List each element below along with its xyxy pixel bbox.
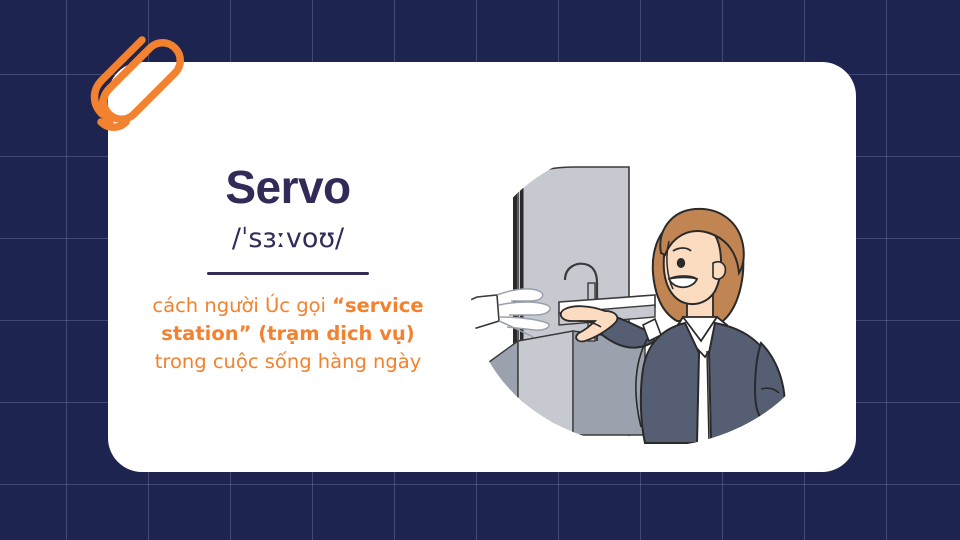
divider [207, 272, 369, 275]
definition-line1-bold: “service [332, 294, 423, 317]
phonetic-transcription: /ˈsɜːvoʊ/ [232, 225, 344, 252]
definition-line2-bold: station” (trạm dịch vụ) [161, 322, 414, 345]
slide-canvas: Servo /ˈsɜːvoʊ/ cách người Úc gọi “servi… [0, 0, 960, 540]
definition-line3-plain: trong cuộc sống hàng ngày [155, 350, 422, 373]
definition-block: Servo /ˈsɜːvoʊ/ cách người Úc gọi “servi… [108, 62, 468, 472]
page-title: Servo [225, 164, 350, 210]
definition-line1-plain: cách người Úc gọi [152, 294, 332, 317]
woman-at-service-station-illustration [455, 145, 855, 445]
definition-text: cách người Úc gọi “service station” (trạ… [138, 292, 438, 377]
